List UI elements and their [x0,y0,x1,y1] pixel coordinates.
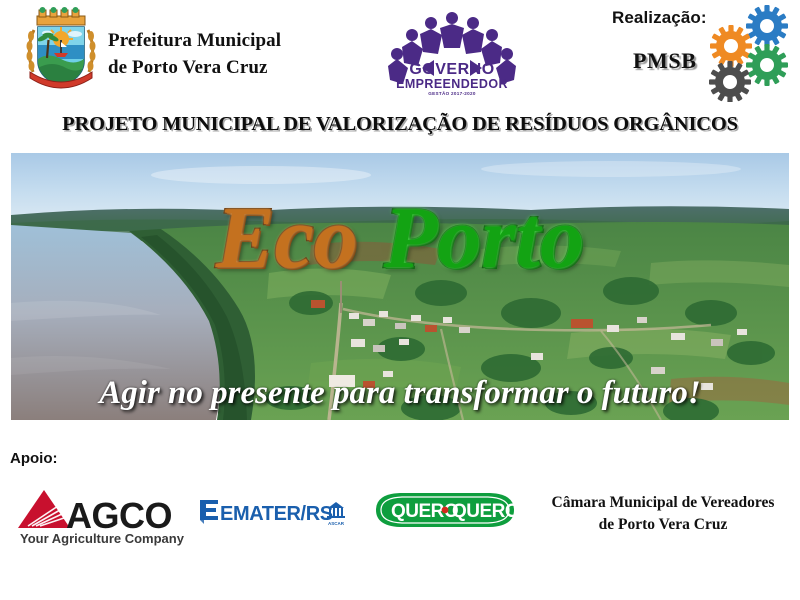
wordmark-eco: Eco [216,190,358,287]
quero-left: QUERO [391,501,458,522]
poster-root: Prefeitura Municipal de Porto Vera Cruz [0,0,800,600]
wordmark-porto: Porto [384,190,584,287]
sponsor-logo-agco: AGCO Your Agriculture Company [14,484,186,546]
agco-tagline: Your Agriculture Company [20,531,185,546]
camara-municipal-text: Câmara Municipal de Vereadores de Porto … [534,492,792,537]
gears-icon [704,2,798,102]
governo-logo-line-2: EMPREENDEDOR [396,77,508,91]
svg-text:ASCAR: ASCAR [328,521,345,526]
governo-empreendedor-logo: GOVERNO EMPREENDEDOR GESTÃO 2017-2020 [382,8,522,96]
sponsor-logo-emater: EMATER/RS ASCAR [198,494,350,530]
governo-logo-line-3: GESTÃO 2017-2020 [428,90,476,96]
poster-header: Prefeitura Municipal de Porto Vera Cruz [0,0,800,108]
agco-wordmark: AGCO [66,495,172,536]
prefeitura-line-2: de Porto Vera Cruz [108,55,281,82]
municipal-coat-of-arms [18,6,104,98]
eco-porto-wordmark: EcoPorto [11,195,789,283]
emater-wordmark: EMATER/RS [220,503,333,525]
hero-banner: EcoPorto Agir no presente para transform… [4,146,796,427]
page-title: PROJETO MUNICIPAL DE VALORIZAÇÃO DE RESÍ… [0,113,800,136]
prefeitura-line-1: Prefeitura Municipal [108,28,281,55]
realizacao-label: Realização: [612,8,707,28]
prefeitura-title: Prefeitura Municipal de Porto Vera Cruz [108,28,281,82]
governo-logo-line-1: GOVERNO [409,61,494,78]
sponsor-logo-quero-quero: QUERO QUERO [368,489,522,531]
apoio-label: Apoio: [10,450,57,467]
tagline: Agir no presente para transformar o futu… [11,375,789,412]
pmsb-label: PMSB [633,48,697,74]
aerial-photo: EcoPorto Agir no presente para transform… [11,153,789,420]
camara-line-2: de Porto Vera Cruz [534,514,792,536]
quero-right: QUERO [452,501,519,522]
camara-line-1: Câmara Municipal de Vereadores [534,492,792,514]
